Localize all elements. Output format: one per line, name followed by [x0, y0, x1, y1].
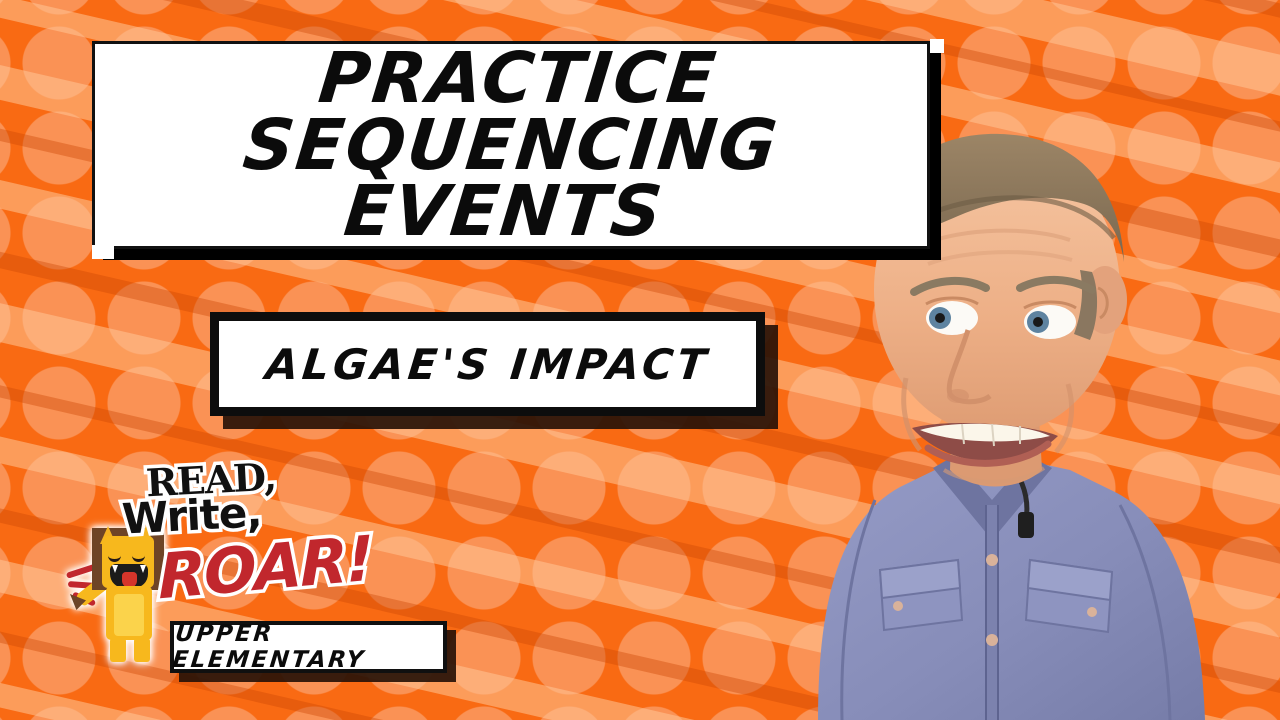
subtitle-card: ALGAE'S IMPACT	[210, 312, 765, 416]
title-card-notch-bottom-left	[92, 245, 114, 259]
grade-level-text: UPPER ELEMENTARY	[171, 621, 445, 673]
main-title-text: PRACTICE SEQUENCING EVENTS	[85, 45, 938, 245]
grade-level-badge: UPPER ELEMENTARY	[170, 621, 447, 673]
main-title-card: PRACTICE SEQUENCING EVENTS	[92, 41, 930, 249]
subtitle-text: ALGAE'S IMPACT	[263, 340, 712, 389]
title-card-notch-top-right	[930, 39, 944, 53]
title-card-stage: PRACTICE SEQUENCING EVENTS ALGAE'S IMPAC…	[0, 0, 1280, 720]
